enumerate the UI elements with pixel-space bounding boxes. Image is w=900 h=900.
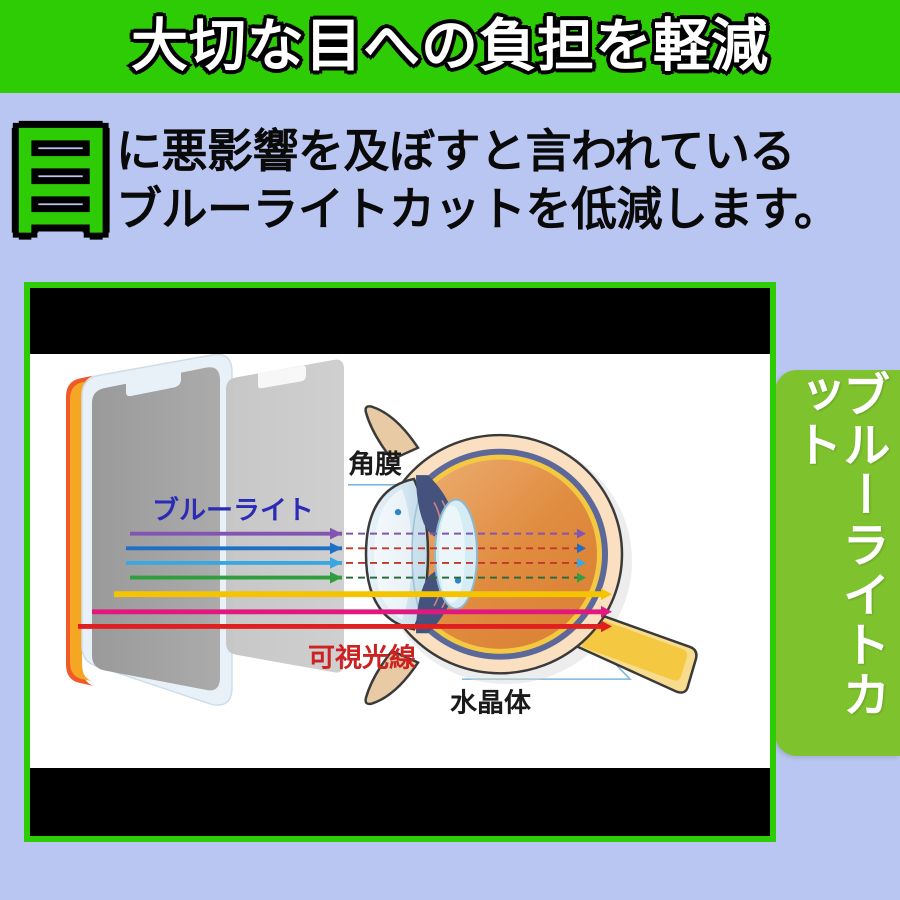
label-cornea: 角膜 bbox=[348, 449, 402, 480]
eye-blue-light-diagram: ブルーライト 可視光線 角膜 水晶体 bbox=[30, 354, 770, 768]
subtitle-lines: に悪影響を及ぼすと言われている ブルーライトカットを低減します。 bbox=[116, 123, 839, 239]
label-lens: 水晶体 bbox=[450, 688, 531, 719]
eye-kanji-icon: 目 bbox=[2, 122, 120, 240]
illustration-canvas: ブルーライト 可視光線 角膜 水晶体 bbox=[30, 354, 770, 768]
illustration-card: ブルーライト 可視光線 角膜 水晶体 bbox=[24, 282, 776, 842]
letterbox-bottom bbox=[30, 768, 770, 836]
subtitle-block: 目 に悪影響を及ぼすと言われている ブルーライトカットを低減します。 bbox=[0, 93, 900, 268]
subtitle-line-1: に悪影響を及ぼすと言われている bbox=[116, 123, 839, 181]
side-tab-label: ブルーライトカット bbox=[790, 370, 886, 756]
subtitle-line-2: ブルーライトカットを低減します。 bbox=[116, 181, 839, 239]
header-banner: 大切な目への負担を軽減 bbox=[0, 0, 900, 93]
label-blue-light: ブルーライト bbox=[152, 495, 314, 526]
letterbox-top bbox=[30, 288, 770, 354]
label-visible-light: 可視光線 bbox=[308, 643, 416, 674]
side-tab-blue-light-cut: ブルーライトカット bbox=[775, 370, 900, 756]
eye-badge: 目 bbox=[20, 117, 102, 245]
page-title: 大切な目への負担を軽減 bbox=[131, 18, 769, 75]
promo-page: 大切な目への負担を軽減 目 に悪影響を及ぼすと言われている ブルーライトカットを… bbox=[0, 0, 900, 900]
smartphone-graphic bbox=[66, 354, 232, 705]
